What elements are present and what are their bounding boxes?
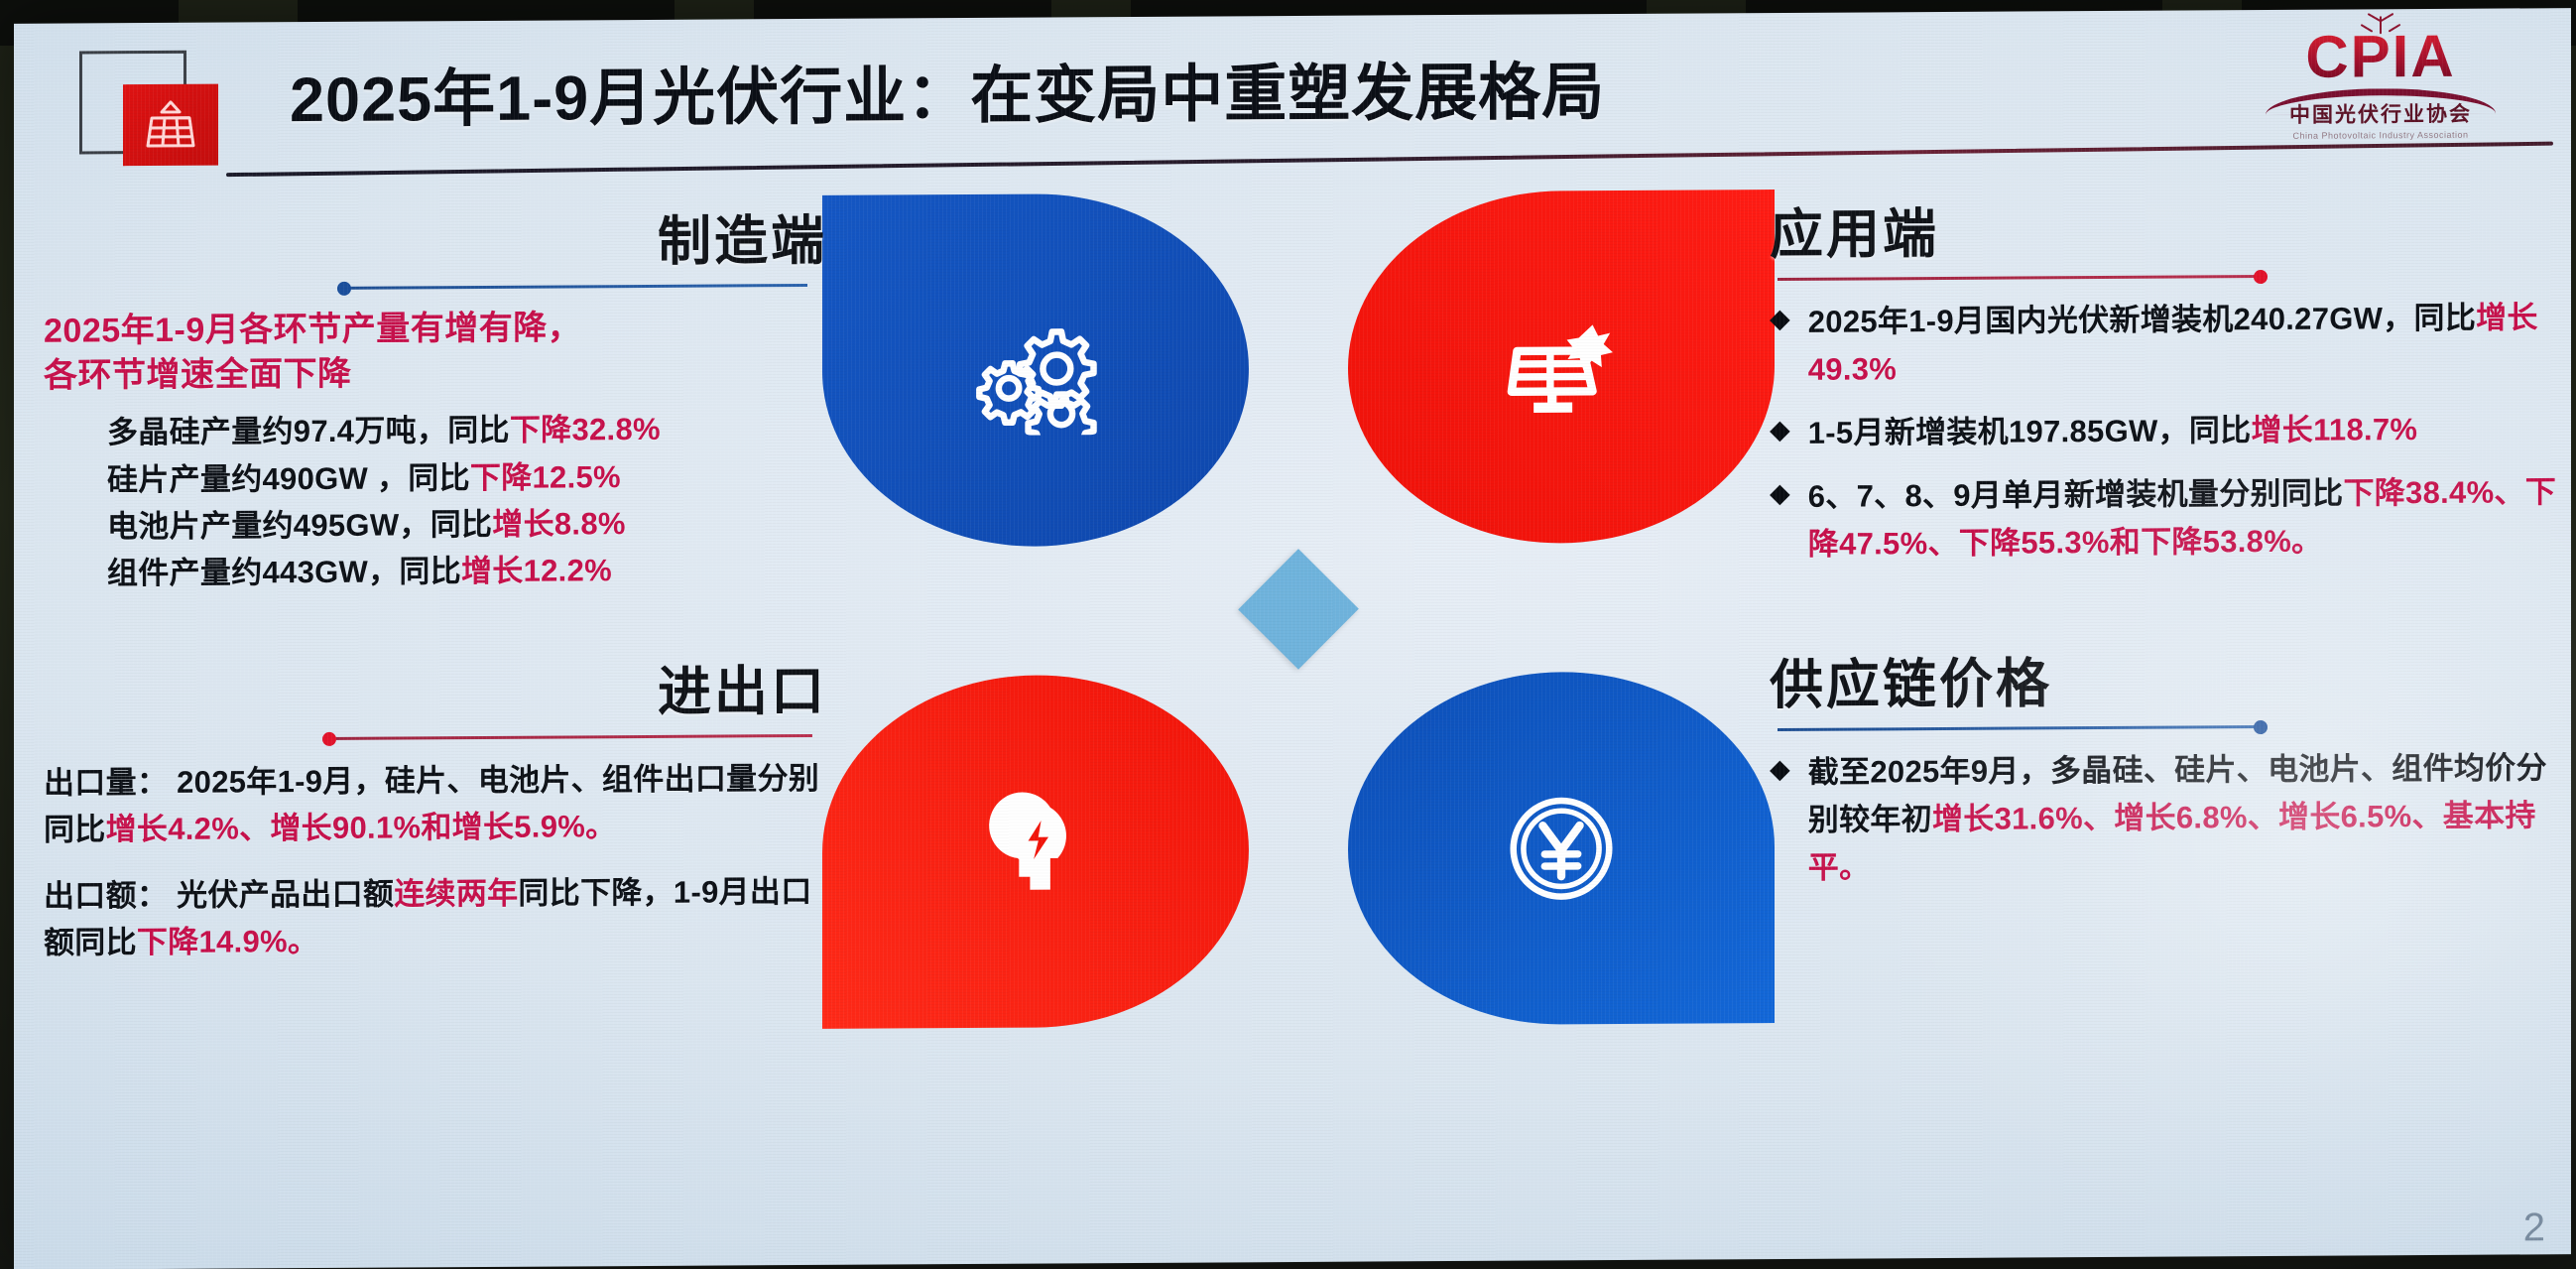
- manufacturing-item: 硅片产量约490GW ，同比下降12.5%: [44, 451, 827, 503]
- petal-trade[interactable]: [822, 674, 1249, 1029]
- petal-cluster: [822, 190, 1775, 1029]
- manufacturing-item-0-hi: 下降32.8%: [510, 412, 661, 447]
- cpia-chinese-name: 中国光伏行业协会: [2232, 97, 2529, 129]
- manufacturing-kicker-line-1: 2025年1-9月各环节产量有增有降，: [44, 305, 827, 354]
- section-price: 供应链价格 ◆ 截至2025年9月，多晶硅、硅片、电池片、组件均价分别较年初增长…: [1770, 653, 2563, 908]
- petal-application[interactable]: [1348, 190, 1775, 545]
- section-heading-manufacturing: 制造端: [44, 213, 827, 275]
- divider-dot: [322, 732, 336, 746]
- section-application: 应用端 ◆ 2025年1-9月国内光伏新增装机240.27GW，同比增长49.3…: [1770, 202, 2563, 584]
- cpia-wordmark: CPIA: [2232, 26, 2529, 87]
- manufacturing-item-2-hi: 增长8.8%: [492, 506, 625, 542]
- presentation-slide: 2025年1-9月光伏行业：在变局中重塑发展格局 CPIA 中国光伏行业协会 C…: [14, 8, 2571, 1269]
- solar-panel-icon: [1497, 302, 1626, 432]
- application-bullet: ◆ 1-5月新增装机197.85GW，同比增长118.7%: [1770, 405, 2563, 457]
- application-bullet-text: 6、7、8、9月单月新增装机量分别同比下降38.4%、下降47.5%、下降55.…: [1808, 468, 2563, 569]
- section-heading-trade: 进出口: [44, 664, 827, 725]
- title-divider: [226, 142, 2553, 178]
- trade-row: 出口额： 光伏产品出口额连续两年同比下降，1-9月出口额同比下降14.9%。: [44, 868, 827, 966]
- manufacturing-item-3-pre: 组件产量约443GW，同比: [107, 554, 461, 590]
- section-divider-application: [1778, 275, 2264, 281]
- application-bullet: ◆ 6、7、8、9月单月新增装机量分别同比下降38.4%、下降47.5%、下降5…: [1770, 468, 2563, 569]
- price-bullet-text: 截至2025年9月，多晶硅、硅片、电池片、组件均价分别较年初增长31.6%、增长…: [1808, 744, 2563, 892]
- cpia-logo: CPIA 中国光伏行业协会 China Photovoltaic Industr…: [2232, 16, 2529, 145]
- manufacturing-item-0-pre: 多晶硅产量约97.4万吨，同比: [107, 413, 510, 449]
- price-bullet: ◆ 截至2025年9月，多晶硅、硅片、电池片、组件均价分别较年初增长31.6%、…: [1770, 744, 2563, 892]
- manufacturing-item: 多晶硅产量约97.4万吨，同比下降32.8%: [44, 405, 827, 456]
- trade-row-1-seg-1: 连续两年: [394, 876, 518, 912]
- section-heading-price: 供应链价格: [1770, 653, 2563, 714]
- application-b1-s1: 增长118.7%: [2251, 412, 2417, 447]
- manufacturing-item: 电池片产量约495GW，同比增长8.8%: [44, 499, 827, 551]
- section-divider-manufacturing: [341, 284, 807, 290]
- application-bullet-text: 1-5月新增装机197.85GW，同比增长118.7%: [1808, 406, 2418, 457]
- diamond-bullet-icon: ◆: [1770, 410, 1790, 450]
- trade-row: 出口量： 2025年1-9月，硅片、电池片、组件出口量分别同比增长4.2%、增长…: [44, 755, 827, 853]
- section-trade: 进出口 出口量： 2025年1-9月，硅片、电池片、组件出口量分别同比增长4.2…: [44, 664, 827, 966]
- divider-dot: [2254, 270, 2268, 284]
- solar-panel-icon: [123, 84, 218, 167]
- petal-manufacturing[interactable]: [822, 192, 1249, 548]
- application-bullet: ◆ 2025年1-9月国内光伏新增装机240.27GW，同比增长49.3%: [1770, 294, 2563, 394]
- application-bullet-text: 2025年1-9月国内光伏新增装机240.27GW，同比增长49.3%: [1808, 294, 2563, 394]
- section-manufacturing: 制造端 2025年1-9月各环节产量有增有降， 各环节增速全面下降 多晶硅产量约…: [44, 213, 827, 597]
- page-title: 2025年1-9月光伏行业：在变局中重塑发展格局: [290, 42, 1605, 140]
- slide-header: 2025年1-9月光伏行业：在变局中重塑发展格局 CPIA 中国光伏行业协会 C…: [14, 8, 2571, 183]
- divider-dot: [337, 281, 351, 295]
- manufacturing-item-2-pre: 电池片产量约495GW，同比: [107, 507, 492, 544]
- manufacturing-kicker: 2025年1-9月各环节产量有增有降， 各环节增速全面下降: [44, 305, 827, 399]
- divider-dot: [2254, 720, 2268, 734]
- section-heading-application: 应用端: [1770, 202, 2563, 264]
- section-divider-trade: [326, 734, 812, 740]
- trade-row-1-seg-0: 出口额： 光伏产品出口额: [44, 876, 394, 913]
- cpia-english-name: China Photovoltaic Industry Association: [2232, 129, 2529, 141]
- diamond-bullet-icon: ◆: [1770, 299, 1790, 339]
- center-diamond: [1238, 549, 1359, 670]
- manufacturing-item: 组件产量约443GW，同比增长12.2%: [44, 546, 827, 597]
- brand-mark: [71, 45, 220, 163]
- diamond-bullet-icon: ◆: [1770, 473, 1790, 514]
- head-bolt-icon: [971, 787, 1100, 917]
- diamond-bullet-icon: ◆: [1770, 749, 1790, 790]
- trade-row-0-seg-1: 增长4.2%、增长90.1%和增长5.9%。: [106, 809, 617, 846]
- page-number: 2: [2523, 1206, 2545, 1250]
- photo-frame: 2025年1-9月光伏行业：在变局中重塑发展格局 CPIA 中国光伏行业协会 C…: [0, 0, 2576, 1269]
- gears-icon: [971, 306, 1100, 436]
- application-b1-s0: 1-5月新增装机197.85GW，同比: [1808, 413, 2252, 450]
- application-b2-s0: 6、7、8、9月单月新增装机量分别同比: [1808, 475, 2344, 513]
- manufacturing-kicker-line-2: 各环节增速全面下降: [44, 348, 827, 398]
- application-b0-s0: 2025年1-9月国内光伏新增装机240.27GW，同比: [1808, 300, 2476, 338]
- section-divider-price: [1778, 725, 2264, 731]
- manufacturing-item-3-hi: 增长12.2%: [461, 553, 612, 588]
- trade-row-1-seg-3: 下降14.9%。: [137, 924, 318, 959]
- manufacturing-item-1-hi: 下降12.5%: [470, 459, 621, 495]
- manufacturing-item-1-pre: 硅片产量约490GW ，同比: [107, 460, 470, 497]
- yuan-coin-icon: [1497, 783, 1626, 913]
- petal-price[interactable]: [1348, 671, 1775, 1026]
